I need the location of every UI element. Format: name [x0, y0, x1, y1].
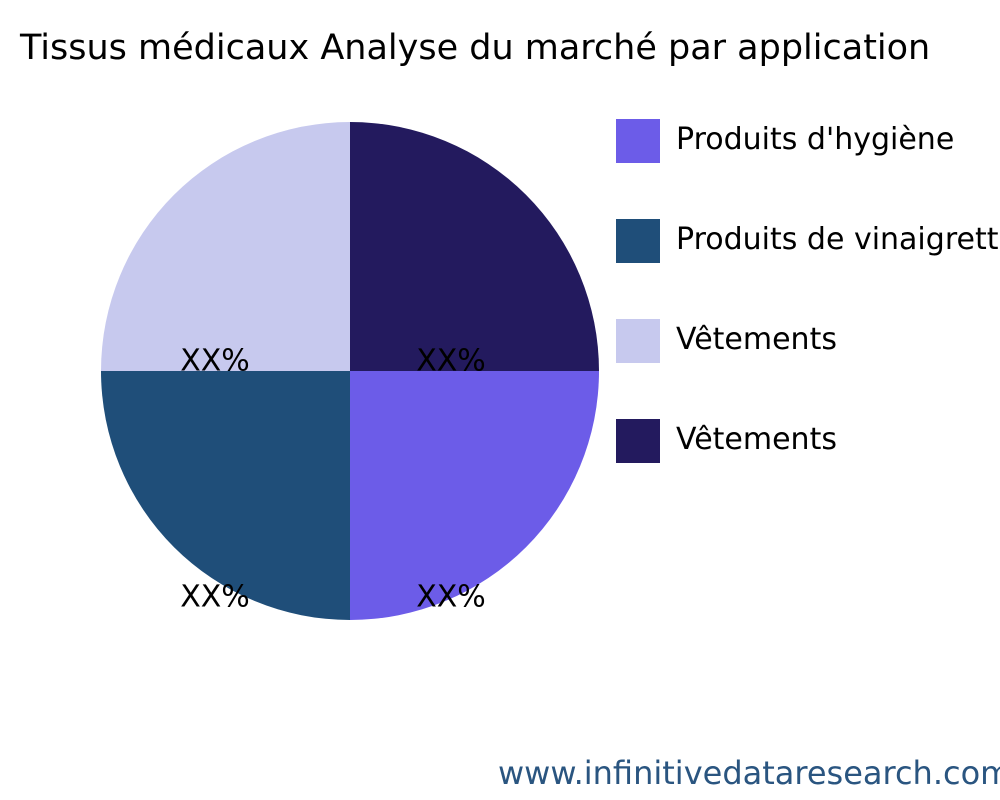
pie-slice-label-3: XX%: [180, 344, 250, 379]
pie-slice-3[interactable]: [101, 122, 350, 371]
legend-label-1: Produits de vinaigrett: [676, 218, 998, 262]
legend-swatch-icon-1: [616, 219, 660, 263]
legend-item-0[interactable]: Produits d'hygiène: [616, 119, 1000, 219]
legend-swatch-icon-3: [616, 419, 660, 463]
legend-swatch-icon-2: [616, 319, 660, 363]
legend-item-2[interactable]: Vêtements: [616, 319, 1000, 419]
legend-item-1[interactable]: Produits de vinaigrett: [616, 219, 1000, 319]
pie-slice-label-2: XX%: [180, 580, 250, 615]
pie-chart: XX% XX% XX% XX%: [101, 122, 599, 620]
page-title: Tissus médicaux Analyse du marché par ap…: [20, 26, 930, 70]
legend-label-0: Produits d'hygiène: [676, 118, 954, 162]
legend-swatch-icon-0: [616, 119, 660, 163]
pie-slice-label-0: XX%: [416, 344, 486, 379]
legend-label-3: Vêtements: [676, 418, 837, 462]
pie-slice-0[interactable]: [350, 122, 599, 371]
legend: Produits d'hygiène Produits de vinaigret…: [616, 119, 1000, 519]
source-url[interactable]: www.infinitivedataresearch.com: [498, 753, 1000, 793]
legend-label-2: Vêtements: [676, 318, 837, 362]
legend-item-3[interactable]: Vêtements: [616, 419, 1000, 519]
pie-chart-svg: XX% XX% XX% XX%: [101, 122, 599, 620]
pie-slice-label-1: XX%: [416, 580, 486, 615]
